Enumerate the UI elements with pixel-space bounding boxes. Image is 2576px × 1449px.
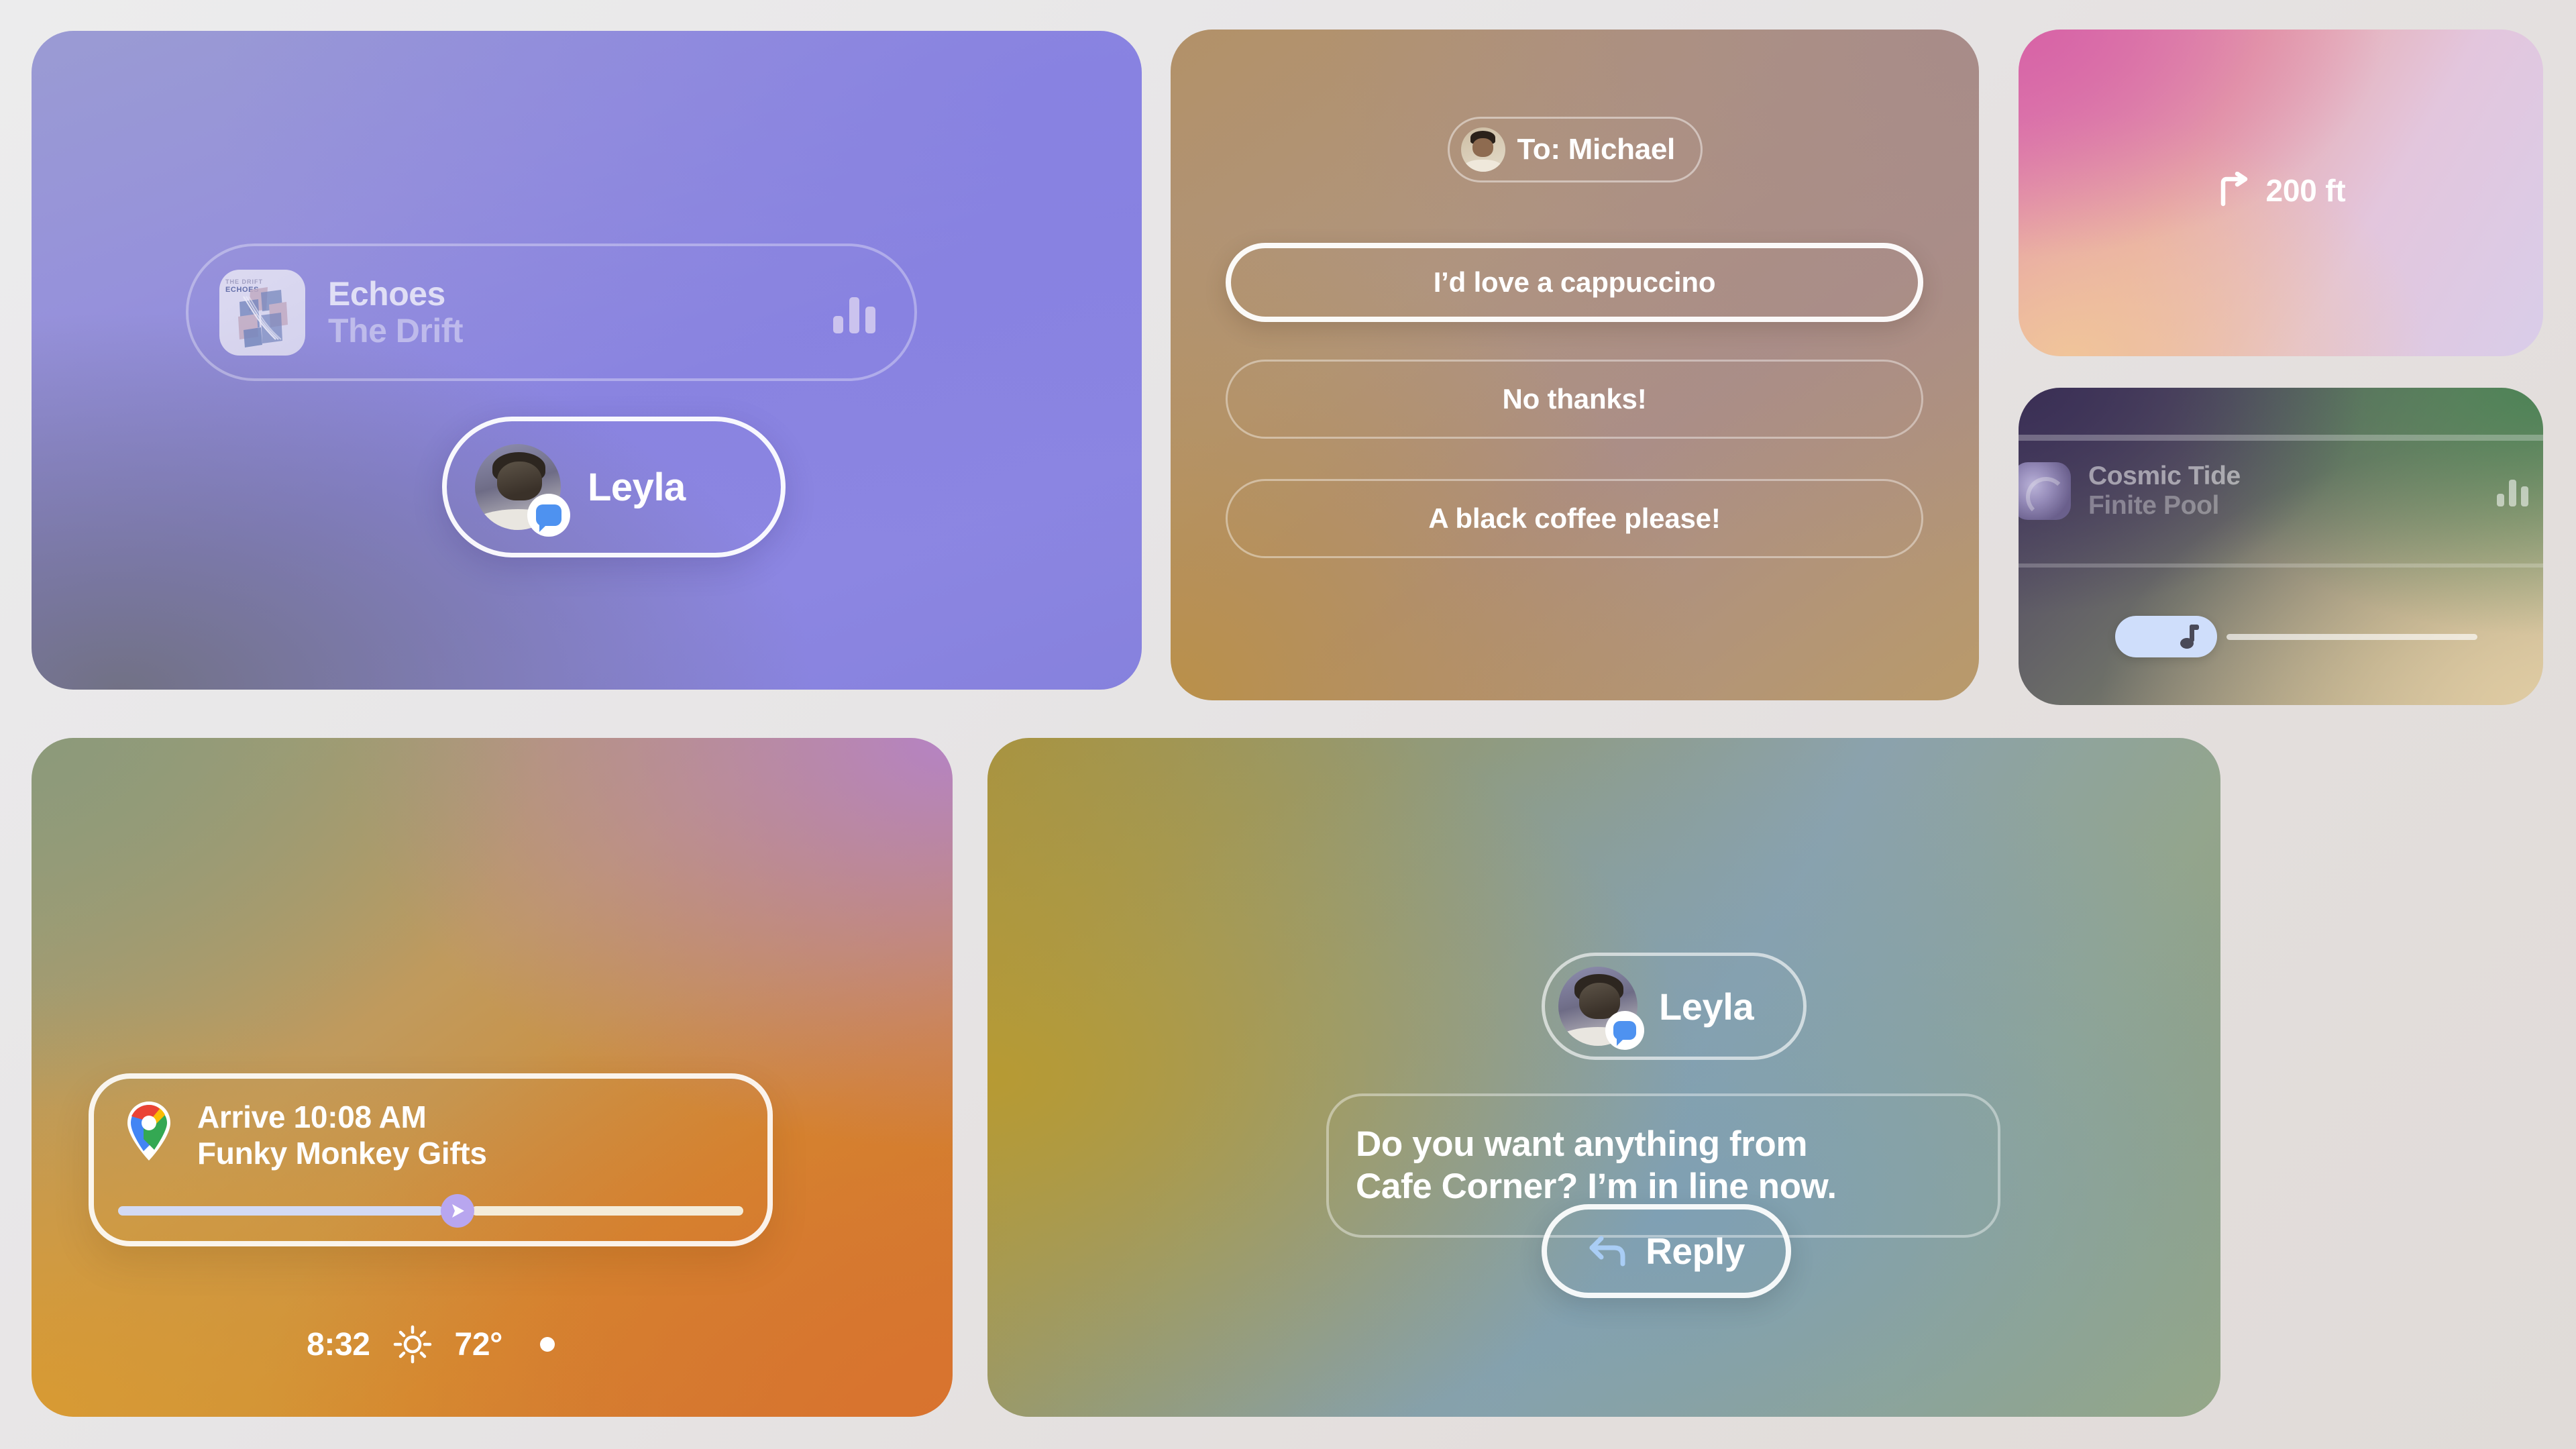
track-title: Echoes — [328, 276, 833, 312]
avatar — [1558, 967, 1638, 1046]
suggestion-label: I’d love a cappuccino — [1434, 266, 1716, 299]
reply-arrow-icon — [1588, 1233, 1628, 1269]
divider-bottom — [2019, 563, 2543, 568]
status-temperature: 72° — [455, 1326, 502, 1363]
sun-icon — [393, 1325, 432, 1364]
album-art-graphic — [219, 270, 305, 356]
progress-fill — [118, 1206, 443, 1216]
track-artist: The Drift — [328, 312, 833, 350]
music-note-icon — [2178, 623, 2202, 650]
suggestion-option-0[interactable]: I’d love a cappuccino — [1226, 243, 1923, 322]
caller-name: Leyla — [588, 465, 686, 510]
now-playing-pill[interactable]: THE DRIFT ECHOES — [186, 244, 917, 381]
suggestion-option-1[interactable]: No thanks! — [1226, 360, 1923, 439]
secondary-now-playing-row[interactable]: Cosmic Tide Finite Pool — [2019, 462, 2543, 521]
turn-right-icon — [2216, 172, 2254, 209]
sender-pill[interactable]: Leyla — [1542, 953, 1807, 1060]
navigation-arrow-glyph — [449, 1202, 466, 1220]
message-bubble-icon — [1605, 1011, 1644, 1050]
reply-button-label: Reply — [1646, 1230, 1745, 1273]
navigation-arrow-icon[interactable] — [441, 1194, 474, 1228]
divider-top — [2019, 435, 2543, 441]
status-time: 8:32 — [307, 1326, 370, 1363]
album-art — [2019, 462, 2071, 520]
maps-destination-text: Funky Monkey Gifts — [197, 1135, 487, 1171]
equalizer-icon — [833, 292, 875, 333]
navigation-distance: 200 ft — [2266, 172, 2346, 209]
now-playing-text: Echoes The Drift — [328, 276, 833, 350]
track-title: Cosmic Tide — [2088, 462, 2497, 491]
track-artist: Finite Pool — [2088, 491, 2497, 521]
map-pin-glyph — [123, 1100, 174, 1162]
suggestion-label: A black coffee please! — [1428, 502, 1720, 535]
reply-suggestions-card[interactable]: To: Michael I’d love a cappuccino No tha… — [1171, 30, 1979, 700]
dot-icon — [540, 1337, 555, 1352]
route-progress-bar[interactable] — [118, 1196, 743, 1226]
slider-thumb[interactable] — [2115, 616, 2217, 657]
incoming-message-card[interactable]: Leyla Do you want anything from Cafe Cor… — [987, 738, 2220, 1417]
music-and-call-card[interactable]: THE DRIFT ECHOES — [32, 31, 1142, 690]
status-row: 8:32 72° — [89, 1325, 773, 1364]
album-art: THE DRIFT ECHOES — [219, 270, 305, 356]
message-line-1: Do you want anything from — [1356, 1124, 1837, 1166]
avatar — [475, 444, 561, 530]
map-pin-icon — [118, 1099, 180, 1161]
progress-remaining — [472, 1206, 743, 1216]
widget-dashboard: THE DRIFT ECHOES — [0, 0, 2576, 1449]
message-line-2: Cafe Corner? I’m in line now. — [1356, 1166, 1837, 1208]
sender-name: Leyla — [1659, 985, 1754, 1028]
avatar — [1461, 127, 1505, 172]
slider-track[interactable] — [2226, 634, 2477, 640]
navigation-card[interactable]: 200 ft — [2019, 30, 2543, 356]
message-text: Do you want anything from Cafe Corner? I… — [1356, 1124, 1837, 1207]
volume-slider[interactable] — [2115, 616, 2518, 657]
maps-navigation-card[interactable]: Arrive 10:08 AM Funky Monkey Gifts 8:32 — [32, 738, 953, 1417]
secondary-music-card[interactable]: Cosmic Tide Finite Pool — [2019, 388, 2543, 705]
maps-eta-pill[interactable]: Arrive 10:08 AM Funky Monkey Gifts — [89, 1073, 773, 1246]
reply-button[interactable]: Reply — [1542, 1204, 1791, 1298]
recipient-pill[interactable]: To: Michael — [1448, 117, 1703, 182]
suggestion-label: No thanks! — [1502, 383, 1646, 415]
recipient-label: To: Michael — [1517, 133, 1675, 166]
message-bubble-icon — [527, 494, 570, 537]
suggestion-option-2[interactable]: A black coffee please! — [1226, 479, 1923, 558]
equalizer-icon — [2497, 476, 2528, 506]
maps-eta-text: Arrive 10:08 AM — [197, 1099, 487, 1135]
incoming-caller-pill[interactable]: Leyla — [442, 417, 786, 557]
